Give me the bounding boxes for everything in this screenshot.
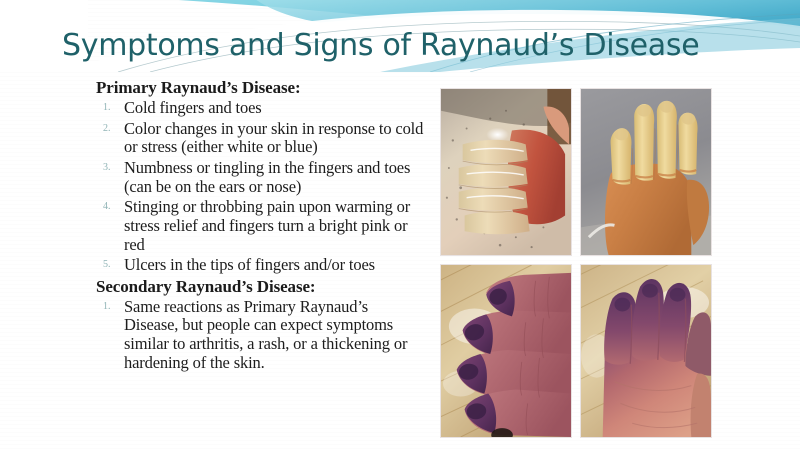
photo-blue-fingers-palm-wood-floor	[580, 264, 712, 438]
list-item: 3. Numbness or tingling in the fingers a…	[96, 158, 426, 196]
photo-illustration	[581, 265, 711, 437]
photo-purple-blue-fingertips-wood-floor	[440, 264, 572, 438]
list-item-number: 1.	[96, 297, 124, 316]
list-item-number: 3.	[96, 158, 124, 177]
secondary-symptoms-list: 1. Same reactions as Primary Raynaud’s D…	[96, 297, 426, 373]
list-item-text: Cold fingers and toes	[124, 98, 426, 118]
section-heading-secondary: Secondary Raynaud’s Disease:	[96, 277, 426, 296]
list-item-number: 1.	[96, 98, 124, 117]
page-title: Symptoms and Signs of Raynaud’s Disease	[62, 28, 699, 63]
list-item-number: 2.	[96, 119, 124, 138]
list-item-text: Stinging or throbbing pain upon warming …	[124, 197, 426, 254]
list-item: 5. Ulcers in the tips of fingers and/or …	[96, 255, 426, 275]
symptoms-content-column: Primary Raynaud’s Disease: 1. Cold finge…	[96, 78, 426, 373]
section-heading-primary: Primary Raynaud’s Disease:	[96, 78, 426, 97]
list-item: 4. Stinging or throbbing pain upon warmi…	[96, 197, 426, 254]
list-item: 1. Cold fingers and toes	[96, 98, 426, 118]
list-item-text: Numbness or tingling in the fingers and …	[124, 158, 426, 196]
slide-canvas: Symptoms and Signs of Raynaud’s Disease …	[0, 0, 800, 450]
list-item-text: Same reactions as Primary Raynaud’s Dise…	[124, 297, 426, 373]
photo-pale-fingers-speckled-counter	[440, 88, 572, 256]
list-item-number: 5.	[96, 255, 124, 274]
list-item-number: 4.	[96, 197, 124, 216]
photo-illustration	[441, 265, 571, 437]
primary-symptoms-list: 1. Cold fingers and toes 2. Color change…	[96, 98, 426, 275]
photo-illustration	[441, 89, 571, 255]
list-item: 1. Same reactions as Primary Raynaud’s D…	[96, 297, 426, 373]
photo-yellow-white-fingers-gray-background	[580, 88, 712, 256]
list-item-text: Ulcers in the tips of fingers and/or toe…	[124, 255, 426, 275]
photo-illustration	[581, 89, 711, 255]
list-item: 2. Color changes in your skin in respons…	[96, 119, 426, 157]
list-item-text: Color changes in your skin in response t…	[124, 119, 426, 157]
photo-gallery	[440, 88, 712, 438]
